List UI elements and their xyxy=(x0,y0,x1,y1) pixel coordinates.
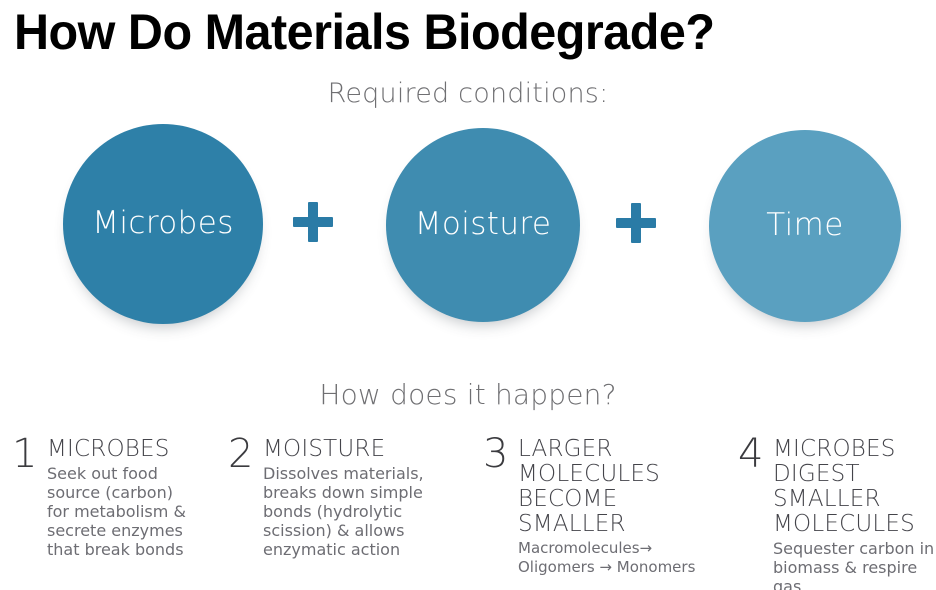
subtitle-required-conditions: Required conditions: xyxy=(0,78,936,110)
condition-label-microbes: Microbes xyxy=(92,205,234,241)
steps-row: 1 MICROBES Seek out food source (carbon)… xyxy=(0,437,936,590)
step-description: Dissolves materials, breaks down simple … xyxy=(263,464,478,559)
step-title: LARGER MOLECULES BECOME SMALLER xyxy=(518,437,733,537)
step-item: 4 MICROBES DIGEST SMALLER MOLECULES Sequ… xyxy=(738,437,936,590)
section-heading-how-does-it-happen: How does it happen? xyxy=(0,378,936,412)
step-description: Seek out food source (carbon) for metabo… xyxy=(47,464,227,559)
step-body: MOISTURE Dissolves materials, breaks dow… xyxy=(260,437,478,559)
step-body: LARGER MOLECULES BECOME SMALLER Macromol… xyxy=(515,437,733,577)
condition-circle-microbes: Microbes xyxy=(63,124,263,324)
step-body: MICROBES Seek out food source (carbon) f… xyxy=(44,437,227,559)
page-title: How Do Materials Biodegrade? xyxy=(14,2,897,62)
condition-label-time: Time xyxy=(766,207,843,243)
step-number: 1 xyxy=(12,435,44,473)
step-title: MICROBES DIGEST SMALLER MOLECULES xyxy=(773,437,936,537)
condition-circle-time: Time xyxy=(709,130,901,322)
step-title: MICROBES xyxy=(47,437,227,462)
condition-label-moisture: Moisture xyxy=(415,206,552,242)
step-item: 2 MOISTURE Dissolves materials, breaks d… xyxy=(228,437,478,559)
step-description: Sequester carbon in biomass & respire ga… xyxy=(773,539,936,590)
step-number: 4 xyxy=(738,435,770,473)
plus-icon xyxy=(616,203,656,243)
condition-circle-moisture: Moisture xyxy=(386,128,580,322)
conditions-row: Microbes Moisture Time xyxy=(0,118,936,333)
step-description: Macromolecules→ Oligomers → Monomers xyxy=(518,539,733,577)
step-item: 1 MICROBES Seek out food source (carbon)… xyxy=(12,437,227,559)
infographic-page: How Do Materials Biodegrade? Required co… xyxy=(0,0,936,590)
step-item: 3 LARGER MOLECULES BECOME SMALLER Macrom… xyxy=(483,437,733,577)
step-number: 3 xyxy=(483,435,515,473)
plus-icon xyxy=(293,202,333,242)
step-number: 2 xyxy=(228,435,260,473)
step-body: MICROBES DIGEST SMALLER MOLECULES Seques… xyxy=(770,437,936,590)
step-title: MOISTURE xyxy=(263,437,478,462)
